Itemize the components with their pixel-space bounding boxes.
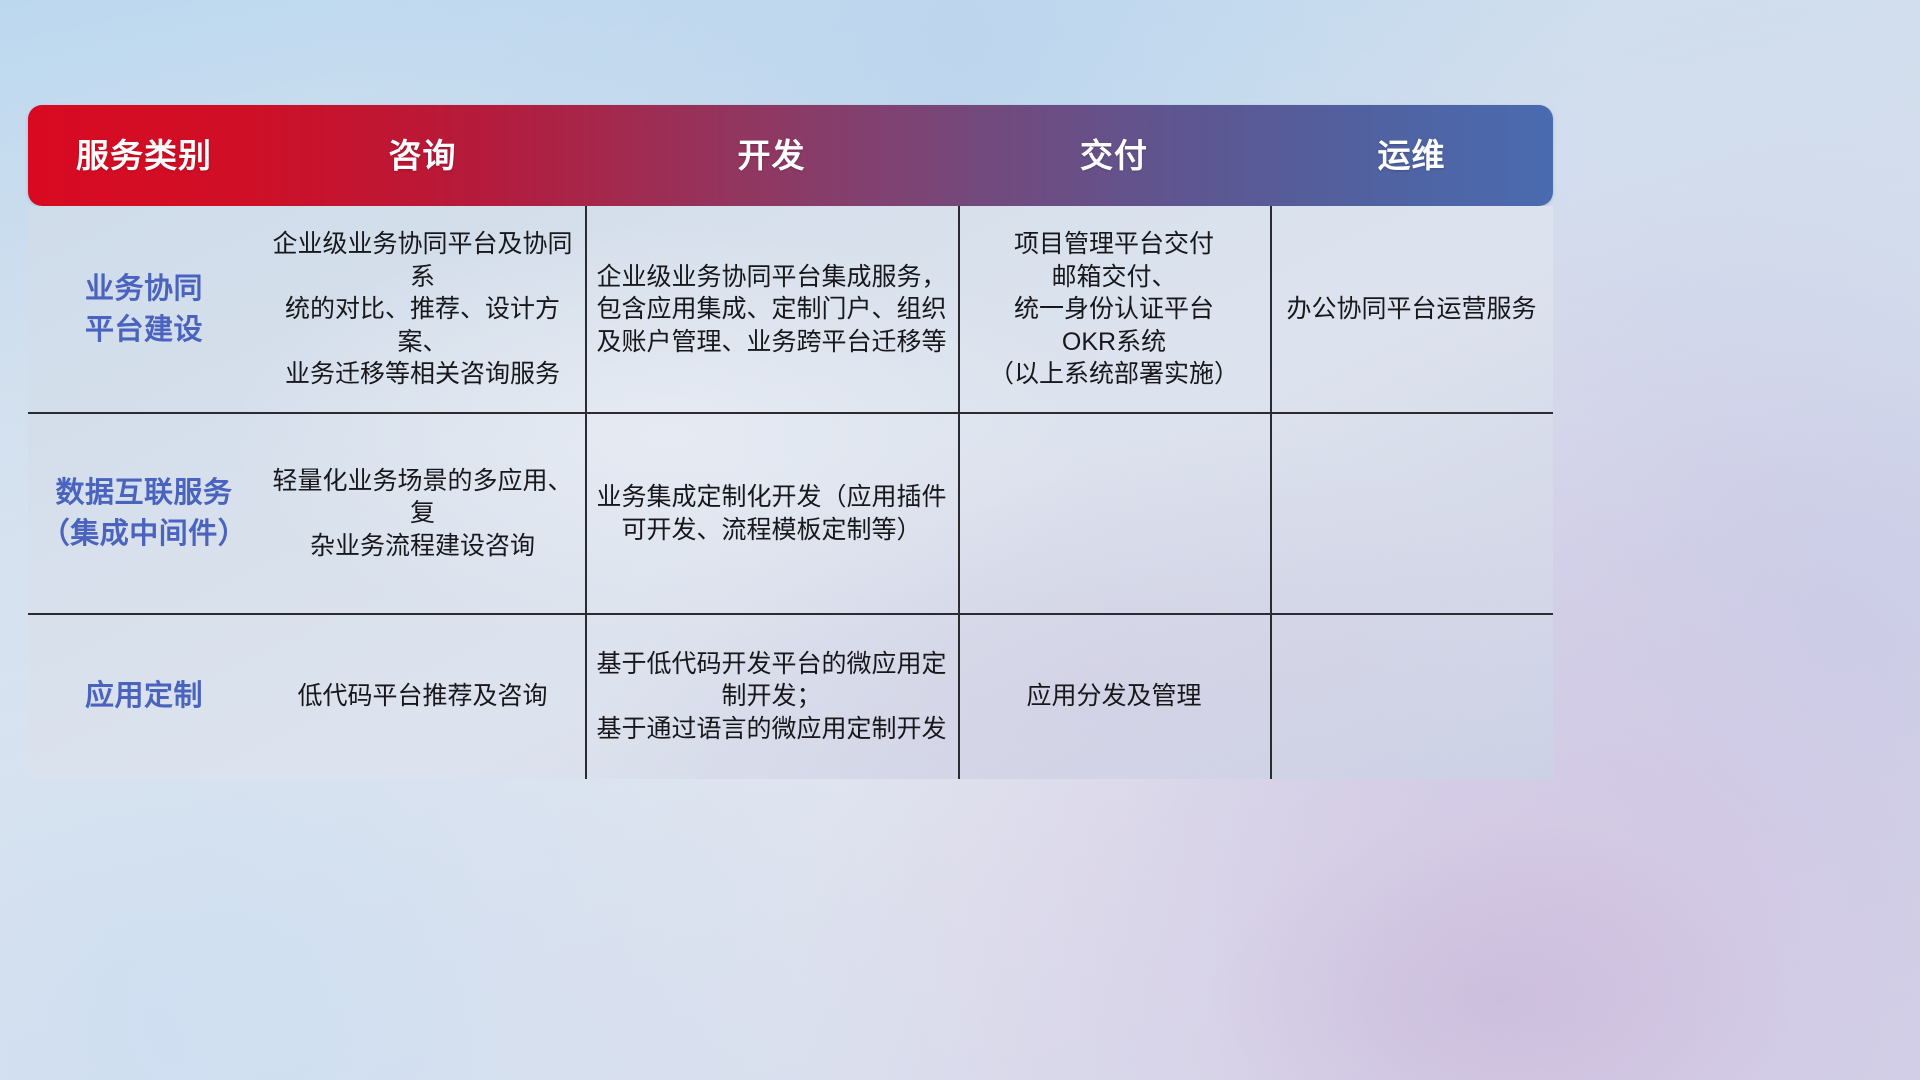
cell-row3-operations [1270, 614, 1553, 779]
column-header-operations: 运维 [1270, 139, 1553, 172]
row-divider [28, 613, 1553, 615]
table-row: 业务协同 平台建设 企业级业务协同平台及协同系 统的对比、推荐、设计方案、 业务… [28, 206, 1553, 413]
slide-canvas: 服务类别 咨询 开发 交付 运维 业务协同 平台建设 企业级业务协同平台及协同系… [0, 0, 1920, 1080]
column-header-service-category: 服务类别 [28, 139, 260, 172]
row-label-application-customization: 应用定制 [28, 614, 260, 779]
cell-row3-development: 基于低代码开发平台的微应用定 制开发； 基于通过语言的微应用定制开发 [585, 614, 958, 779]
column-header-development: 开发 [585, 139, 958, 172]
row-divider [28, 412, 1553, 414]
cell-row1-consulting: 企业级业务协同平台及协同系 统的对比、推荐、设计方案、 业务迁移等相关咨询服务 [260, 206, 585, 413]
cell-row3-consulting: 低代码平台推荐及咨询 [260, 614, 585, 779]
row-label-business-collaboration: 业务协同 平台建设 [28, 206, 260, 413]
table-row: 数据互联服务 （集成中间件） 轻量化业务场景的多应用、复 杂业务流程建设咨询 业… [28, 413, 1553, 614]
cell-row1-operations: 办公协同平台运营服务 [1270, 206, 1553, 413]
table-row: 应用定制 低代码平台推荐及咨询 基于低代码开发平台的微应用定 制开发； 基于通过… [28, 614, 1553, 779]
cell-row1-development: 企业级业务协同平台集成服务， 包含应用集成、定制门户、组织 及账户管理、业务跨平… [585, 206, 958, 413]
table-body: 业务协同 平台建设 企业级业务协同平台及协同系 统的对比、推荐、设计方案、 业务… [28, 206, 1553, 779]
cell-row3-delivery: 应用分发及管理 [958, 614, 1270, 779]
service-matrix-table: 服务类别 咨询 开发 交付 运维 业务协同 平台建设 企业级业务协同平台及协同系… [28, 105, 1553, 779]
cell-row2-delivery [958, 413, 1270, 614]
column-header-delivery: 交付 [958, 139, 1270, 172]
row-label-data-interconnection: 数据互联服务 （集成中间件） [28, 413, 260, 614]
cell-row2-operations [1270, 413, 1553, 614]
table-header-row: 服务类别 咨询 开发 交付 运维 [28, 105, 1553, 206]
cell-row1-delivery: 项目管理平台交付 邮箱交付、 统一身份认证平台 OKR系统 （以上系统部署实施） [958, 206, 1270, 413]
cell-row2-development: 业务集成定制化开发（应用插件 可开发、流程模板定制等） [585, 413, 958, 614]
column-header-consulting: 咨询 [260, 139, 585, 172]
cell-row2-consulting: 轻量化业务场景的多应用、复 杂业务流程建设咨询 [260, 413, 585, 614]
